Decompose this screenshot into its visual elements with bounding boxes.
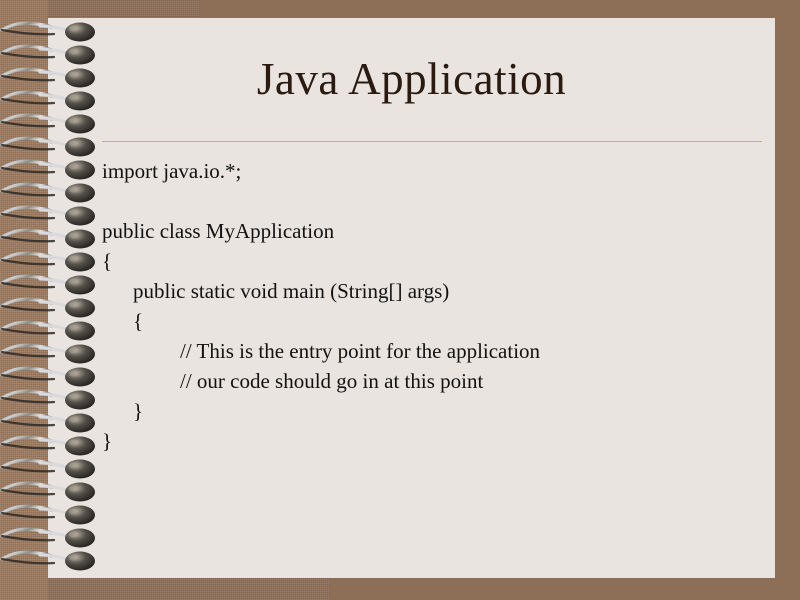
code-line: // our code should go in at this point — [102, 366, 752, 396]
code-line: { — [102, 306, 752, 336]
code-block: import java.io.*; public class MyApplica… — [102, 156, 752, 456]
slide-title: Java Application — [48, 52, 775, 106]
code-line: public class MyApplication — [102, 216, 752, 246]
code-line: { — [102, 246, 752, 276]
notebook-binding-strip — [0, 0, 48, 600]
code-line: public static void main (String[] args) — [102, 276, 752, 306]
background-texture-bottom — [0, 576, 330, 600]
code-line: } — [102, 426, 752, 456]
code-line: import java.io.*; — [102, 156, 752, 186]
slide-canvas: Java Application import java.io.*; publi… — [0, 0, 800, 600]
code-line: } — [102, 396, 752, 426]
code-line: // This is the entry point for the appli… — [102, 336, 752, 366]
title-divider-rule — [102, 141, 762, 142]
code-line-blank — [102, 186, 752, 216]
